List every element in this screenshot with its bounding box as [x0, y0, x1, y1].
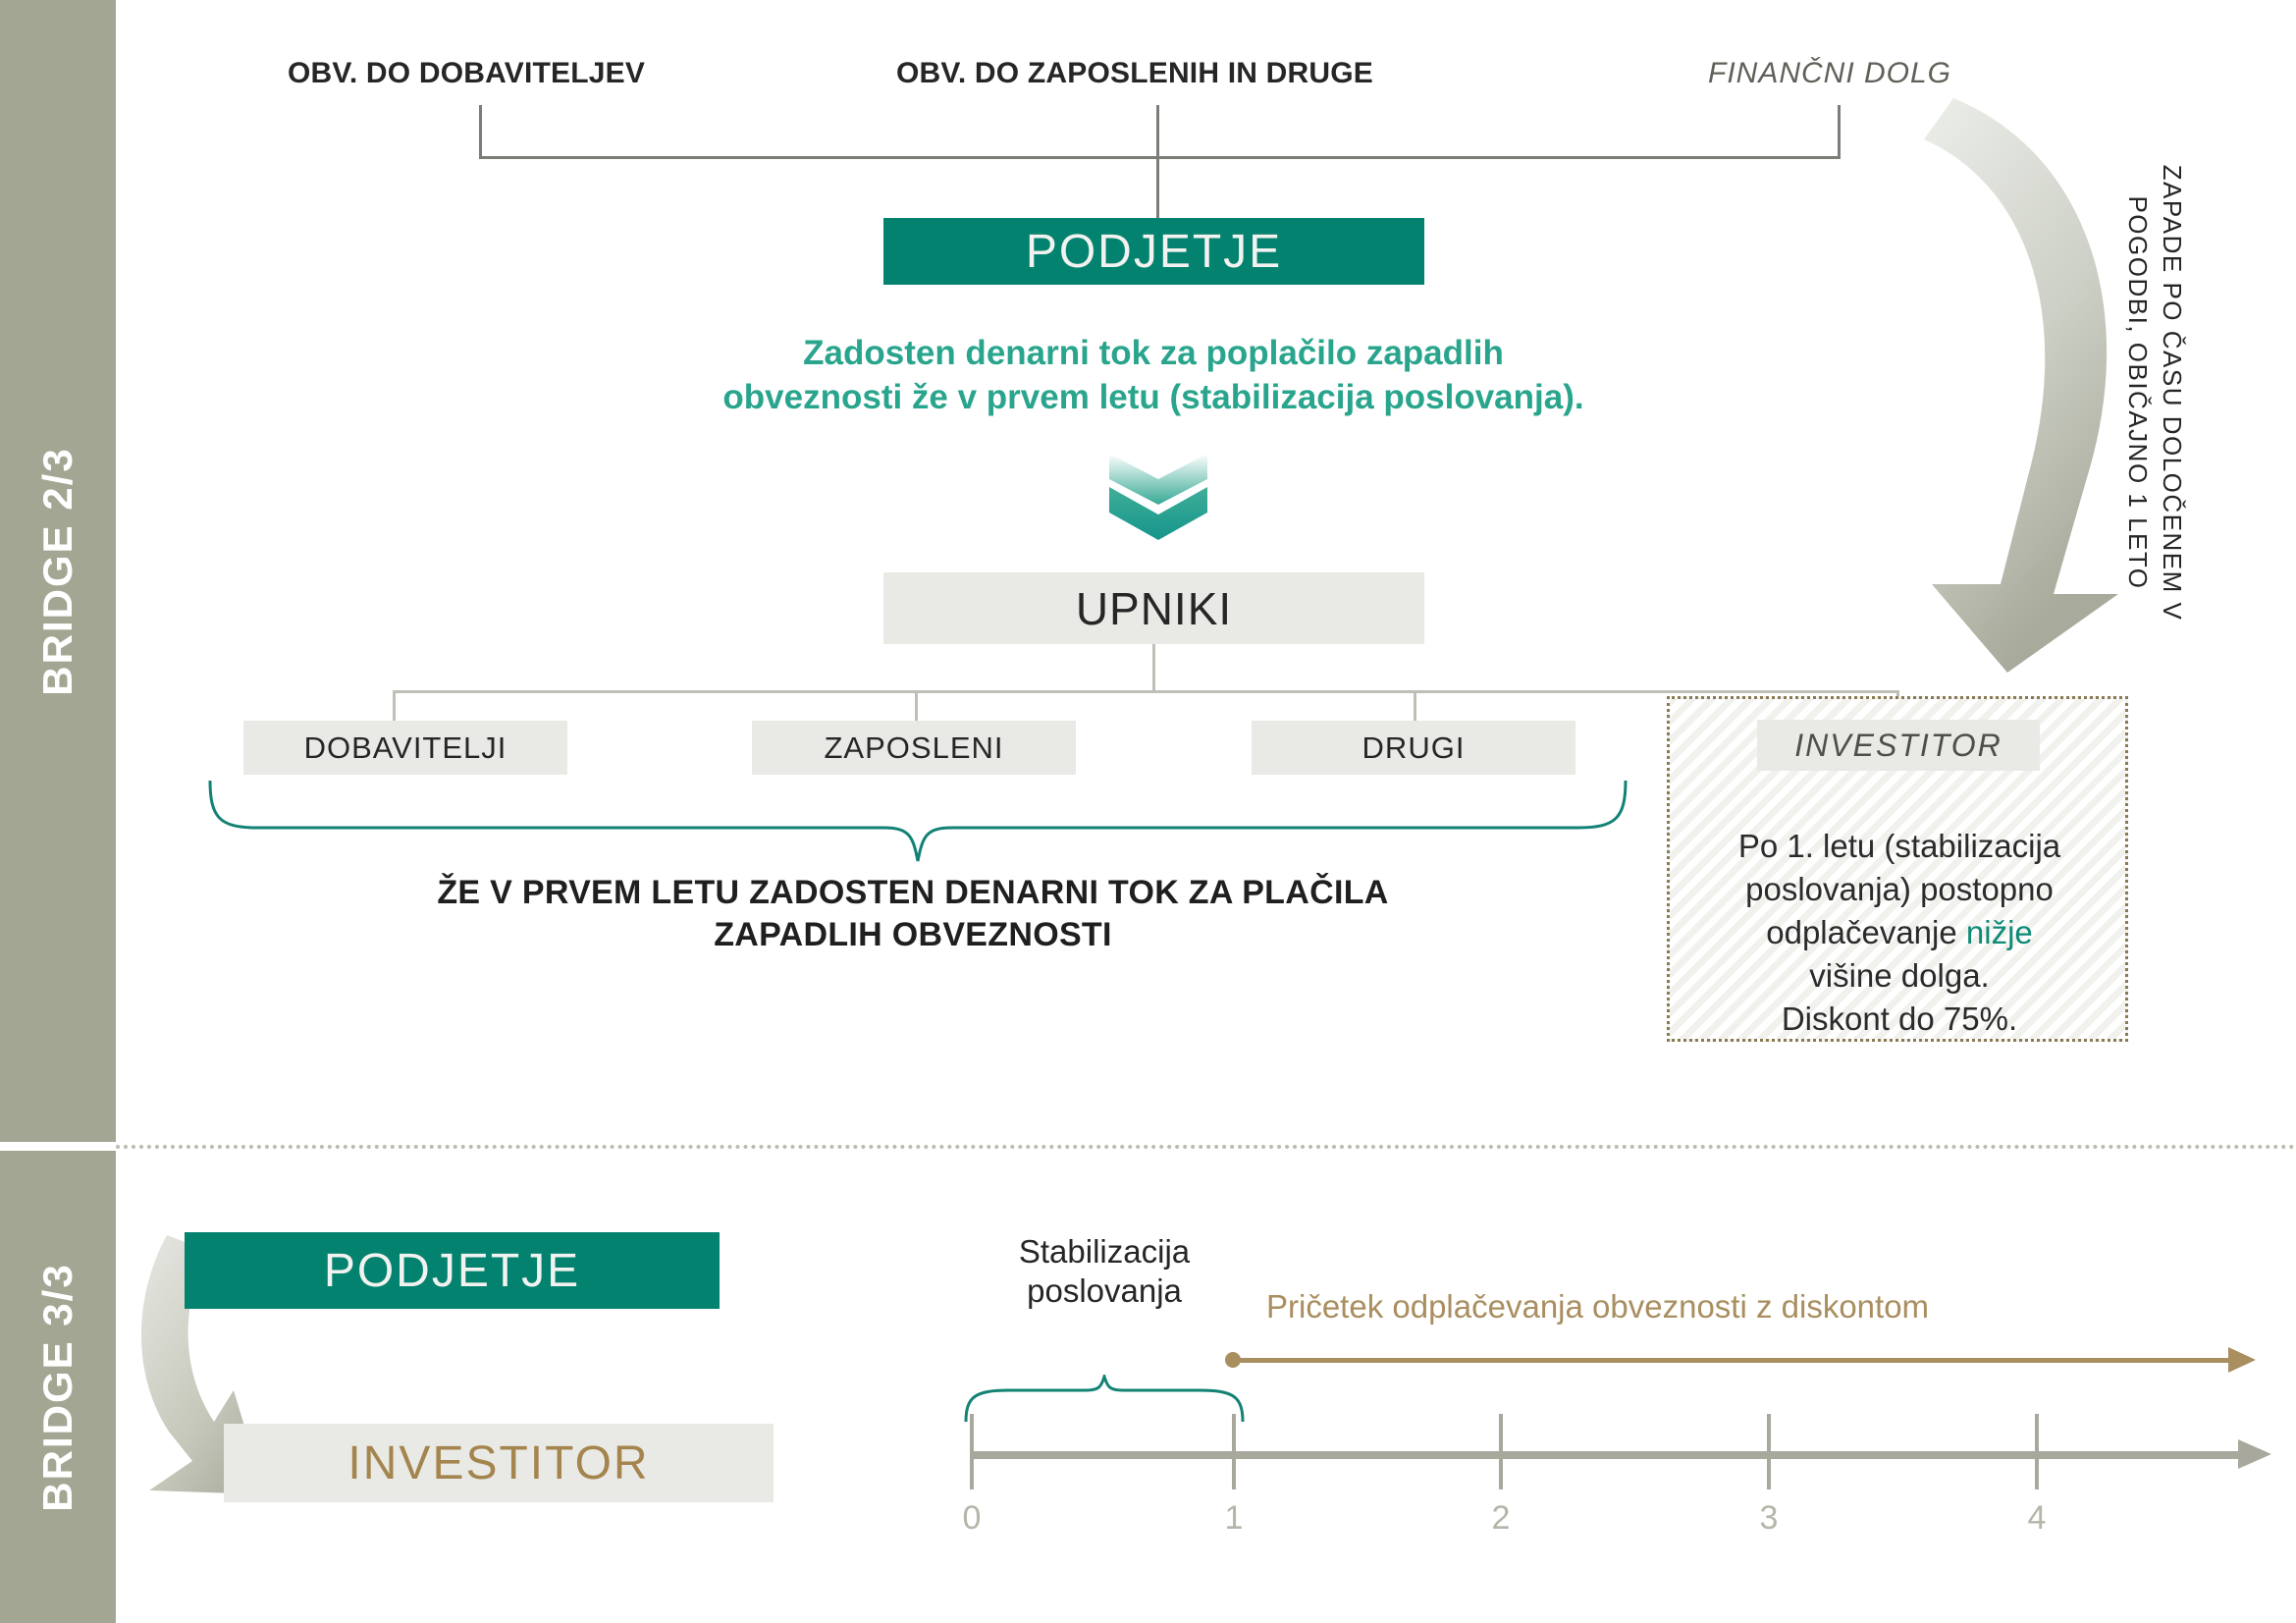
box-investitor-bottom[interactable]: INVESTITOR — [224, 1424, 774, 1502]
caption-stabilizacija-poslovanja: Stabilizacija poslovanja — [962, 1232, 1247, 1310]
timeline-tick-3 — [1767, 1414, 1771, 1489]
box-podjetje-top-label: PODJETJE — [1026, 225, 1282, 279]
investor-text-line-3: odplačevanje nižje — [1679, 911, 2120, 954]
connector-bus-top — [479, 156, 1841, 159]
brace-creditors — [206, 779, 1629, 872]
slide-canvas: BRIDGE 2/3 BRIDGE 3/3 OBV. DO DOBAVITELJ… — [0, 0, 2296, 1623]
connector-drop-box-dobavitelji — [393, 690, 396, 722]
connector-drop-zaposleni — [1156, 105, 1159, 156]
box-investitor-title: INVESTITOR — [1757, 720, 2040, 771]
rail-label-bridge-3-3: BRIDGE 3/3 — [34, 1263, 81, 1511]
label-obv-do-zaposlenih: OBV. DO ZAPOSLENIH IN DRUGE — [896, 57, 1373, 90]
timeline-arrowhead-icon — [2238, 1435, 2277, 1480]
box-podjetje-top[interactable]: PODJETJE — [883, 218, 1424, 285]
investor-text-line-3-pre: odplačevanje — [1766, 914, 1966, 950]
box-dobavitelji-label: DOBAVITELJI — [304, 730, 507, 766]
connector-drop-box-drugi — [1414, 690, 1416, 722]
label-obv-do-dobaviteljev: OBV. DO DOBAVITELJEV — [288, 57, 645, 90]
timeline-label-3: 3 — [1749, 1499, 1789, 1538]
brace-stabilization — [962, 1375, 1247, 1429]
box-zaposleni[interactable]: ZAPOSLENI — [752, 721, 1076, 775]
caption-zadosten-denarni-tok: ŽE V PRVEM LETU ZADOSTEN DENARNI TOK ZA … — [226, 872, 1600, 955]
box-investitor-title-label: INVESTITOR — [1794, 728, 2002, 764]
investor-panel-text: Po 1. letu (stabilizacija poslovanja) po… — [1679, 825, 2120, 1040]
timeline-axis — [970, 1451, 2246, 1459]
timeline-label-2: 2 — [1481, 1499, 1521, 1538]
investor-text-line-1: Po 1. letu (stabilizacija — [1679, 825, 2120, 868]
box-upniki[interactable]: UPNIKI — [883, 572, 1424, 644]
section-divider — [116, 1145, 2296, 1149]
investor-text-line-5: Diskont do 75%. — [1679, 998, 2120, 1041]
timeline-tick-2 — [1499, 1414, 1503, 1489]
timeline-label-0: 0 — [952, 1499, 991, 1538]
timeline-tick-4 — [2035, 1414, 2039, 1489]
connector-drop-box-zaposleni — [915, 690, 918, 722]
timeline-label-1: 1 — [1214, 1499, 1254, 1538]
box-drugi[interactable]: DRUGI — [1252, 721, 1575, 775]
gold-arrowhead-icon — [2228, 1344, 2262, 1382]
rail-bridge-3-3: BRIDGE 3/3 — [0, 1151, 116, 1623]
rail-bridge-2-3: BRIDGE 2/3 — [0, 0, 116, 1142]
gold-repayment-line — [1235, 1358, 2236, 1363]
caption-pricetek-odplacevanja: Pričetek odplačevanja obveznosti z disko… — [1266, 1288, 1929, 1325]
connector-drop-to-podjetje — [1156, 156, 1159, 221]
connector-drop-financni — [1838, 105, 1841, 156]
investor-text-highlight-nizje: nižje — [1966, 914, 2033, 950]
box-upniki-label: UPNIKI — [1076, 582, 1232, 635]
connector-drop-dobavitelji — [479, 105, 482, 156]
box-podjetje-bottom-label: PODJETJE — [324, 1244, 580, 1298]
connector-upniki-bus — [393, 690, 1899, 693]
box-drugi-label: DRUGI — [1362, 730, 1466, 766]
rail-label-bridge-2-3: BRIDGE 2/3 — [34, 447, 81, 695]
box-zaposleni-label: ZAPOSLENI — [825, 730, 1004, 766]
connector-upniki-drop — [1152, 644, 1155, 691]
note-cashflow: Zadosten denarni tok za poplačilo zapadl… — [589, 332, 1718, 420]
box-podjetje-bottom[interactable]: PODJETJE — [185, 1232, 720, 1309]
box-dobavitelji[interactable]: DOBAVITELJI — [243, 721, 567, 775]
investor-text-line-2: poslovanja) postopno — [1679, 868, 2120, 911]
investor-text-line-4: višine dolga. — [1679, 954, 2120, 998]
note-zapade-po-casu: ZAPADE PO ČASU DOLOČENEM V POGODBI, OBIČ… — [2101, 118, 2189, 668]
timeline-label-4: 4 — [2017, 1499, 2056, 1538]
chevron-down-icon — [1109, 454, 1207, 549]
box-investitor-bottom-label: INVESTITOR — [347, 1436, 649, 1490]
